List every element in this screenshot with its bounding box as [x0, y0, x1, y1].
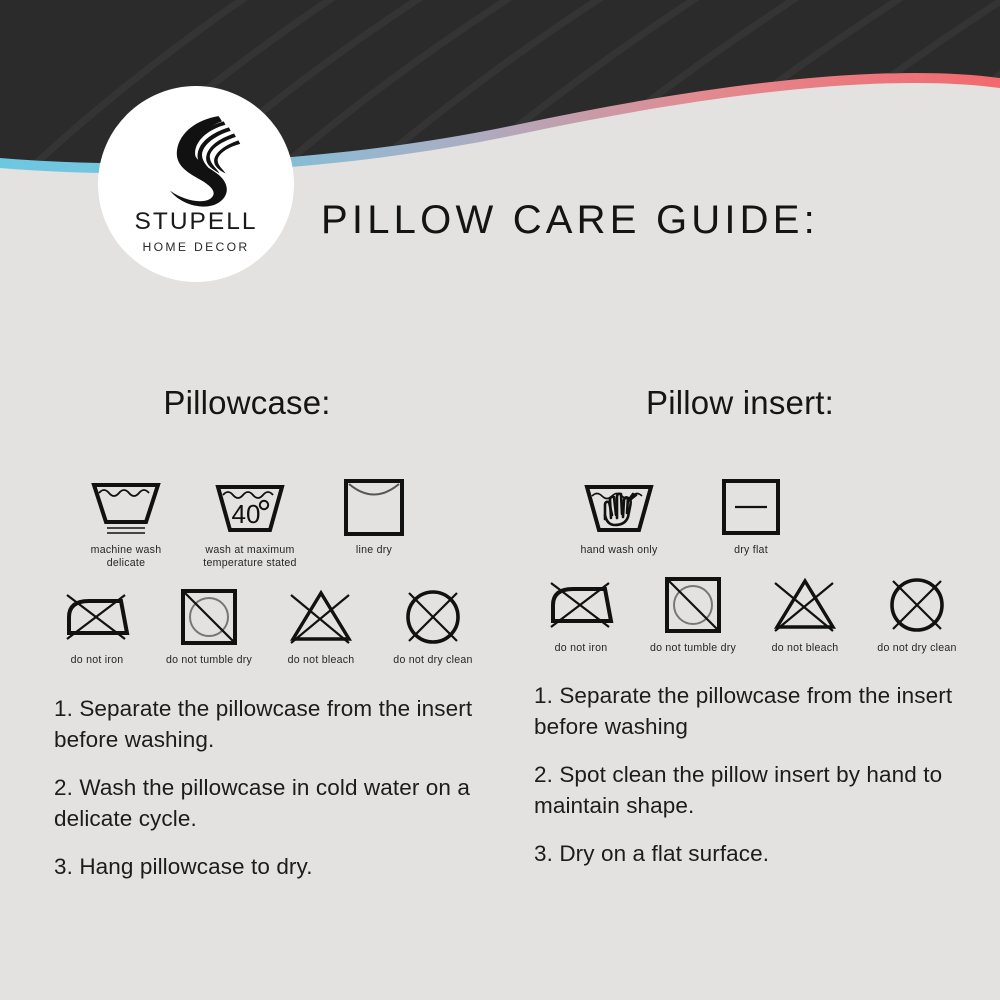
brand-logo-badge: STUPELL HOME DECOR [98, 86, 294, 282]
do-not-dry-clean-glyph [399, 585, 467, 647]
line-dry-icon: line dry [326, 475, 422, 557]
page-title: PILLOW CARE GUIDE: [0, 198, 1000, 243]
pillowcase-icon-row-2: do not iron do not tumble dry [44, 585, 496, 667]
pillow-insert-heading: Pillow insert: [524, 386, 976, 419]
machine-wash-delicate-glyph [88, 475, 164, 537]
do-not-dry-clean-icon: do not dry clean [869, 573, 965, 655]
icon-caption: line dry [356, 544, 392, 557]
machine-wash-delicate-icon: machine wash delicate [78, 475, 174, 569]
do-not-bleach-glyph [767, 573, 843, 635]
dry-flat-icon: dry flat [703, 475, 799, 557]
icon-caption: do not iron [555, 642, 608, 655]
do-not-tumble-dry-glyph [175, 585, 243, 647]
do-not-tumble-dry-glyph [659, 573, 727, 635]
pillow-insert-column: Pillow insert: [524, 386, 976, 886]
do-not-bleach-glyph [283, 585, 359, 647]
pillowcase-icon-grid: machine wash delicate 40 wash at maximum… [44, 475, 496, 667]
do-not-tumble-dry-icon: do not tumble dry [645, 573, 741, 655]
icon-caption: do not bleach [288, 654, 355, 667]
pillow-insert-icon-row-1: hand wash only dry flat [524, 475, 976, 557]
line-dry-glyph [340, 475, 408, 537]
icon-caption: do not dry clean [877, 642, 956, 655]
pillow-insert-icon-row-2: do not iron do not tumble dry [524, 573, 976, 655]
instruction-item: 3. Dry on a flat surface. [534, 838, 976, 869]
pillowcase-icon-row-1: machine wash delicate 40 wash at maximum… [44, 475, 496, 569]
do-not-iron-glyph [543, 573, 619, 635]
icon-caption: do not bleach [772, 642, 839, 655]
instruction-item: 1. Separate the pillowcase from the inse… [534, 680, 976, 742]
svg-text:40: 40 [232, 499, 261, 529]
do-not-bleach-icon: do not bleach [273, 585, 369, 667]
icon-caption: dry flat [734, 544, 768, 557]
pillow-insert-instructions: 1. Separate the pillowcase from the inse… [524, 680, 976, 869]
wash-temperature-glyph: 40 [212, 475, 288, 537]
do-not-dry-clean-icon: do not dry clean [385, 585, 481, 667]
pillow-care-guide-page: STUPELL HOME DECOR PILLOW CARE GUIDE: Pi… [0, 0, 1000, 1000]
do-not-bleach-icon: do not bleach [757, 573, 853, 655]
hand-wash-only-glyph [581, 475, 657, 537]
do-not-iron-glyph [59, 585, 135, 647]
icon-caption: hand wash only [580, 544, 657, 557]
instruction-item: 1. Separate the pillowcase from the inse… [54, 693, 496, 755]
icon-caption: do not tumble dry [166, 654, 252, 667]
stupell-swoosh-logo-icon [144, 104, 248, 208]
do-not-iron-icon: do not iron [533, 573, 629, 655]
icon-caption: do not iron [71, 654, 124, 667]
do-not-dry-clean-glyph [883, 573, 951, 635]
instruction-item: 2. Wash the pillowcase in cold water on … [54, 772, 496, 834]
pillow-insert-icon-grid: hand wash only dry flat [524, 475, 976, 654]
pillowcase-heading: Pillowcase: [44, 386, 496, 419]
instruction-item: 2. Spot clean the pillow insert by hand … [534, 759, 976, 821]
icon-caption: do not dry clean [393, 654, 472, 667]
instruction-item: 3. Hang pillowcase to dry. [54, 851, 496, 882]
icon-caption: machine wash delicate [91, 544, 162, 569]
wash-max-temperature-40-icon: 40 wash at maximum temperature stated [202, 475, 298, 569]
pillowcase-instructions: 1. Separate the pillowcase from the inse… [44, 693, 496, 882]
pillowcase-column: Pillowcase: machine wash delicate [44, 386, 496, 899]
hand-wash-only-icon: hand wash only [571, 475, 667, 557]
do-not-iron-icon: do not iron [49, 585, 145, 667]
icon-caption: do not tumble dry [650, 642, 736, 655]
dry-flat-glyph [717, 475, 785, 537]
do-not-tumble-dry-icon: do not tumble dry [161, 585, 257, 667]
icon-caption: wash at maximum temperature stated [203, 544, 296, 569]
